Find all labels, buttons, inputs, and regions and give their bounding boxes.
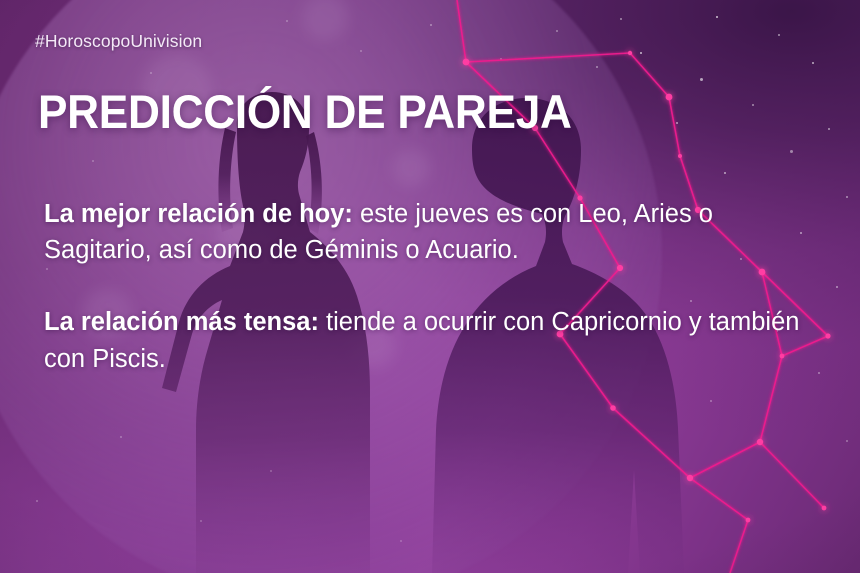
prediction-text-block: La mejor relación de hoy: este jueves es… — [44, 196, 804, 377]
prediction-lead-tense: La relación más tensa: — [44, 308, 319, 336]
prediction-paragraph-tense: La relación más tensa: tiende a ocurrir … — [44, 304, 804, 376]
page-title: PREDICCIÓN DE PAREJA — [38, 88, 572, 136]
prediction-lead-best: La mejor relación de hoy: — [44, 200, 353, 228]
hashtag-label: #HoroscopoUnivision — [35, 31, 202, 52]
card-content: #HoroscopoUnivision PREDICCIÓN DE PAREJA… — [0, 0, 860, 573]
horoscope-card: #HoroscopoUnivision PREDICCIÓN DE PAREJA… — [0, 0, 860, 573]
prediction-paragraph-best: La mejor relación de hoy: este jueves es… — [44, 196, 804, 268]
